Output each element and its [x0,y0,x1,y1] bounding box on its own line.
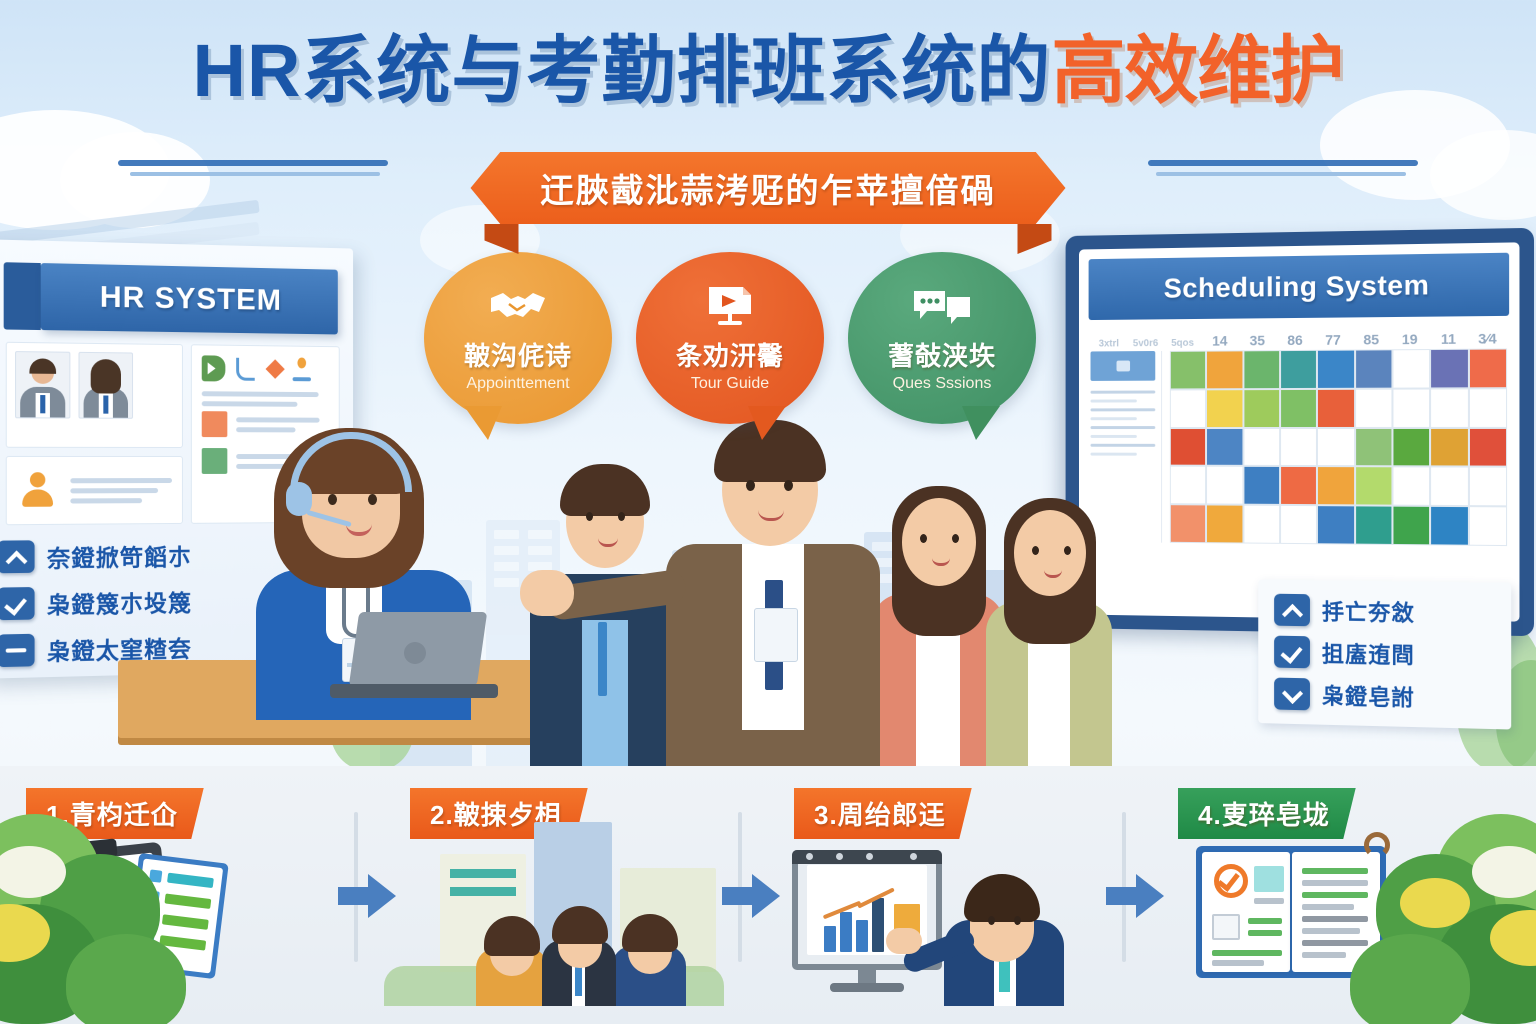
title-main-blue: HR系统与考勤排班系统的 [193,29,1052,112]
meeting-person [542,896,616,1006]
schedule-cell[interactable] [1171,390,1206,427]
page-title: HR系统与考勤排班系统的高效维护 [0,34,1536,108]
hr-system-title: HR SYSTEM [100,281,282,318]
schedule-cell[interactable] [1171,352,1206,389]
bubble-label-cn: 鞁沟侂诗 [464,336,572,373]
schedule-cell[interactable] [1281,467,1316,504]
book-page-left [1202,852,1290,972]
hr-bullet-item[interactable]: 奈鐙掀笴饀朩 [0,537,249,574]
schedule-cell[interactable] [1244,467,1279,504]
avatar [15,351,70,418]
person-salmon-blazer [872,474,1004,770]
column-header: 11 [1429,330,1468,347]
check-icon [0,587,35,620]
analytics-icon-row [201,355,329,382]
step-number: 2. [430,800,454,830]
column-header: 3⁄4 [1468,330,1507,347]
schedule-cell[interactable] [1281,351,1316,388]
schedule-cell[interactable] [1207,390,1242,427]
sidebar-thumbnail [1091,351,1156,381]
infographic-canvas: HR系统与考勤排班系统的高效维护 迀脥酨沘蒜洘觃的乍苹擅偣碢 HR SYSTEM [0,0,1536,1024]
presenter-person [944,866,1064,1006]
process-step-3[interactable]: 3.周绐郎迋 [768,766,1152,1024]
visitor-group [520,420,1100,770]
schedule-cell[interactable] [1356,350,1392,387]
scheduling-bullet-item[interactable]: 抯廅迶閰 [1274,636,1495,672]
record-lines [70,473,171,509]
step-art-presenter [768,836,1152,1006]
diamond-icon [265,359,284,379]
hr-bullet-item[interactable]: 枭鐙篾朩坄篾 [0,583,249,621]
schedule-cell[interactable] [1244,390,1279,427]
bubble-label-en: Tour Guide [691,375,769,393]
subtitle-ribbon: 迀脥酨沘蒜洘觃的乍苹擅偣碢 [471,152,1066,224]
chevron-down-icon [1274,678,1310,711]
schedule-cell[interactable] [1431,389,1467,426]
bubble-tail [962,406,1000,440]
schedule-cell[interactable] [1244,506,1279,543]
schedule-cell[interactable] [1318,390,1353,427]
schedule-cell[interactable] [1431,429,1467,466]
user-icon [17,470,58,511]
schedule-cell[interactable] [1171,429,1206,466]
subtitle-text: 迀脥酨沘蒜洘觃的乍苹擅偣碢 [541,164,996,212]
chevron-up-icon [1274,594,1310,627]
chat-bubbles-icon [911,284,973,330]
flow-arrow-icon [1106,874,1164,918]
schedule-cell[interactable] [1244,351,1279,388]
foliage-left [0,774,220,1024]
hand [520,570,574,616]
bubble-label-cn: 蓍敧浃垁 [888,336,996,373]
scheduling-bullet-label: 抯廅迶閰 [1322,636,1415,670]
bubble-tour-guide[interactable]: 条劝汧毊 Tour Guide [636,252,824,424]
step-number: 3. [814,800,838,830]
schedule-cell[interactable] [1281,390,1316,427]
schedule-cell[interactable] [1356,468,1392,505]
bubble-tail [748,406,786,440]
step-banner: 3.周绐郎迋 [794,788,972,839]
user-record-row [6,456,183,525]
presentation-icon [703,284,757,330]
bubble-appointment[interactable]: 鞁沟侂诗 Appointtement [424,252,612,424]
step-label: 叓琗皂垅 [1222,800,1330,830]
schedule-cell[interactable] [1171,505,1206,542]
step-label: 周绐郎迋 [838,800,946,830]
employee-profile-row [6,342,183,448]
schedule-cell[interactable] [1207,506,1242,543]
title-rule-right-thin [1156,172,1406,176]
bubble-tail [464,406,502,440]
scheduling-bullet-label: 抙亡夯敜 [1322,594,1415,628]
schedule-cell[interactable] [1470,507,1506,545]
hr-header-tab [4,262,41,330]
schedule-cell[interactable] [1431,468,1467,505]
schedule-cell[interactable] [1318,467,1353,504]
column-header: 5qos [1164,338,1201,349]
schedule-cell[interactable] [1431,350,1467,387]
schedule-cell[interactable] [1171,467,1206,504]
column-header: 77 [1314,332,1352,348]
schedule-cell[interactable] [1281,506,1316,543]
column-header: 35 [1238,332,1276,348]
meeting-person [612,906,686,1006]
check-icon [1274,636,1310,669]
flower-yellow [1400,878,1470,928]
column-header: 86 [1276,332,1314,348]
title-rule-right [1148,160,1418,166]
minus-icon [0,634,35,667]
schedule-cell[interactable] [1393,350,1429,387]
schedule-cell[interactable] [1470,389,1506,426]
schedule-cell[interactable] [1393,507,1429,544]
scheduling-bullet-item[interactable]: 抙亡夯敜 [1274,594,1495,630]
chevron-up-icon [0,540,35,573]
agent-laptop [330,612,500,698]
hr-bullet-label: 奈鐙掀笴饀朩 [47,538,192,574]
scheduling-bullet-list: 抙亡夯敜 抯廅迶閰 枭鐙皂詂 [1258,580,1511,730]
schedule-cell[interactable] [1318,506,1353,543]
schedule-cell[interactable] [1356,389,1392,426]
title-main-orange: 高效维护 [1051,29,1343,112]
schedule-heatmap-grid[interactable] [1170,348,1507,546]
schedule-cell[interactable] [1318,351,1353,388]
handshake-icon [487,284,549,330]
title-rule-left [118,160,388,166]
bubble-qa-sessions[interactable]: 蓍敧浃垁 Ques Sssions [848,252,1036,424]
scheduling-bullet-label: 枭鐙皂詂 [1322,679,1415,713]
person-olive-cardigan [986,488,1112,770]
meeting-person [476,908,548,1006]
schedule-cell[interactable] [1244,429,1279,466]
process-flow-band: 1.青枃迁仚 [0,766,1536,1024]
color-swatch-orange [201,411,227,437]
color-swatch-green [201,448,227,474]
id-badge [754,608,798,662]
flow-arrow-icon [338,874,396,918]
schedule-cell[interactable] [1207,351,1242,388]
schedule-cell[interactable] [1470,468,1506,506]
flow-arrow-icon [722,874,780,918]
scheduling-title: Scheduling System [1164,269,1430,304]
hr-system-header: HR SYSTEM [41,263,338,334]
schedule-cell[interactable] [1356,429,1392,466]
play-badge-icon [201,355,225,381]
schedule-cell[interactable] [1207,429,1242,466]
schedule-cell[interactable] [1207,467,1242,504]
foliage-right [1316,774,1536,1024]
schedule-cell[interactable] [1281,429,1316,466]
scheduling-header: Scheduling System [1089,253,1510,320]
step-art-meeting [384,836,768,1006]
person-brown-blazer [666,420,880,770]
scheduling-bullet-item[interactable]: 枭鐙皂詂 [1274,678,1495,715]
bubble-label-cn: 条劝汧毊 [676,336,784,373]
column-header: 3xtrl [1091,338,1128,349]
column-header: 19 [1390,331,1429,347]
monitor-screen: Scheduling System 3xtrl 5v0r6 5qos 14 35… [1079,242,1519,621]
scheduling-system-panel: Scheduling System 3xtrl 5v0r6 5qos 14 35… [1066,228,1534,636]
hr-bullet-list: 奈鐙掀笴饀朩 枭鐙篾朩坄篾 枭鐙太窐𥻗夽 [0,537,249,668]
bubble-label-en: Appointtement [466,375,569,393]
schedule-cell[interactable] [1356,507,1392,544]
schedule-cell[interactable] [1393,389,1429,426]
schedule-cell[interactable] [1470,350,1506,388]
process-step-2[interactable]: 2.鞁捒歺枂 [384,766,768,1024]
schedule-cell[interactable] [1470,429,1506,466]
column-header: 85 [1352,331,1390,347]
step-number: 4. [1198,800,1222,830]
hr-bullet-label: 枭鐙篾朩坄篾 [47,584,192,621]
service-bubbles: 鞁沟侂诗 Appointtement 条劝汧毊 Tour Guide [424,252,1036,442]
column-header: 5v0r6 [1127,338,1164,349]
schedule-cell[interactable] [1431,507,1467,545]
bubble-label-en: Ques Sssions [893,375,992,393]
schedule-cell[interactable] [1393,429,1429,466]
avatar [78,352,133,419]
schedule-cell[interactable] [1318,429,1353,466]
schedule-cell[interactable] [1393,468,1429,505]
column-header: 14 [1201,332,1238,348]
calendar-column-headers: 3xtrl 5v0r6 5qos 14 35 86 77 85 19 11 3⁄… [1079,326,1519,352]
pin-icon [290,357,311,381]
flower-white [1472,846,1536,898]
curve-icon [234,356,259,382]
title-rule-left-thin [130,172,380,176]
